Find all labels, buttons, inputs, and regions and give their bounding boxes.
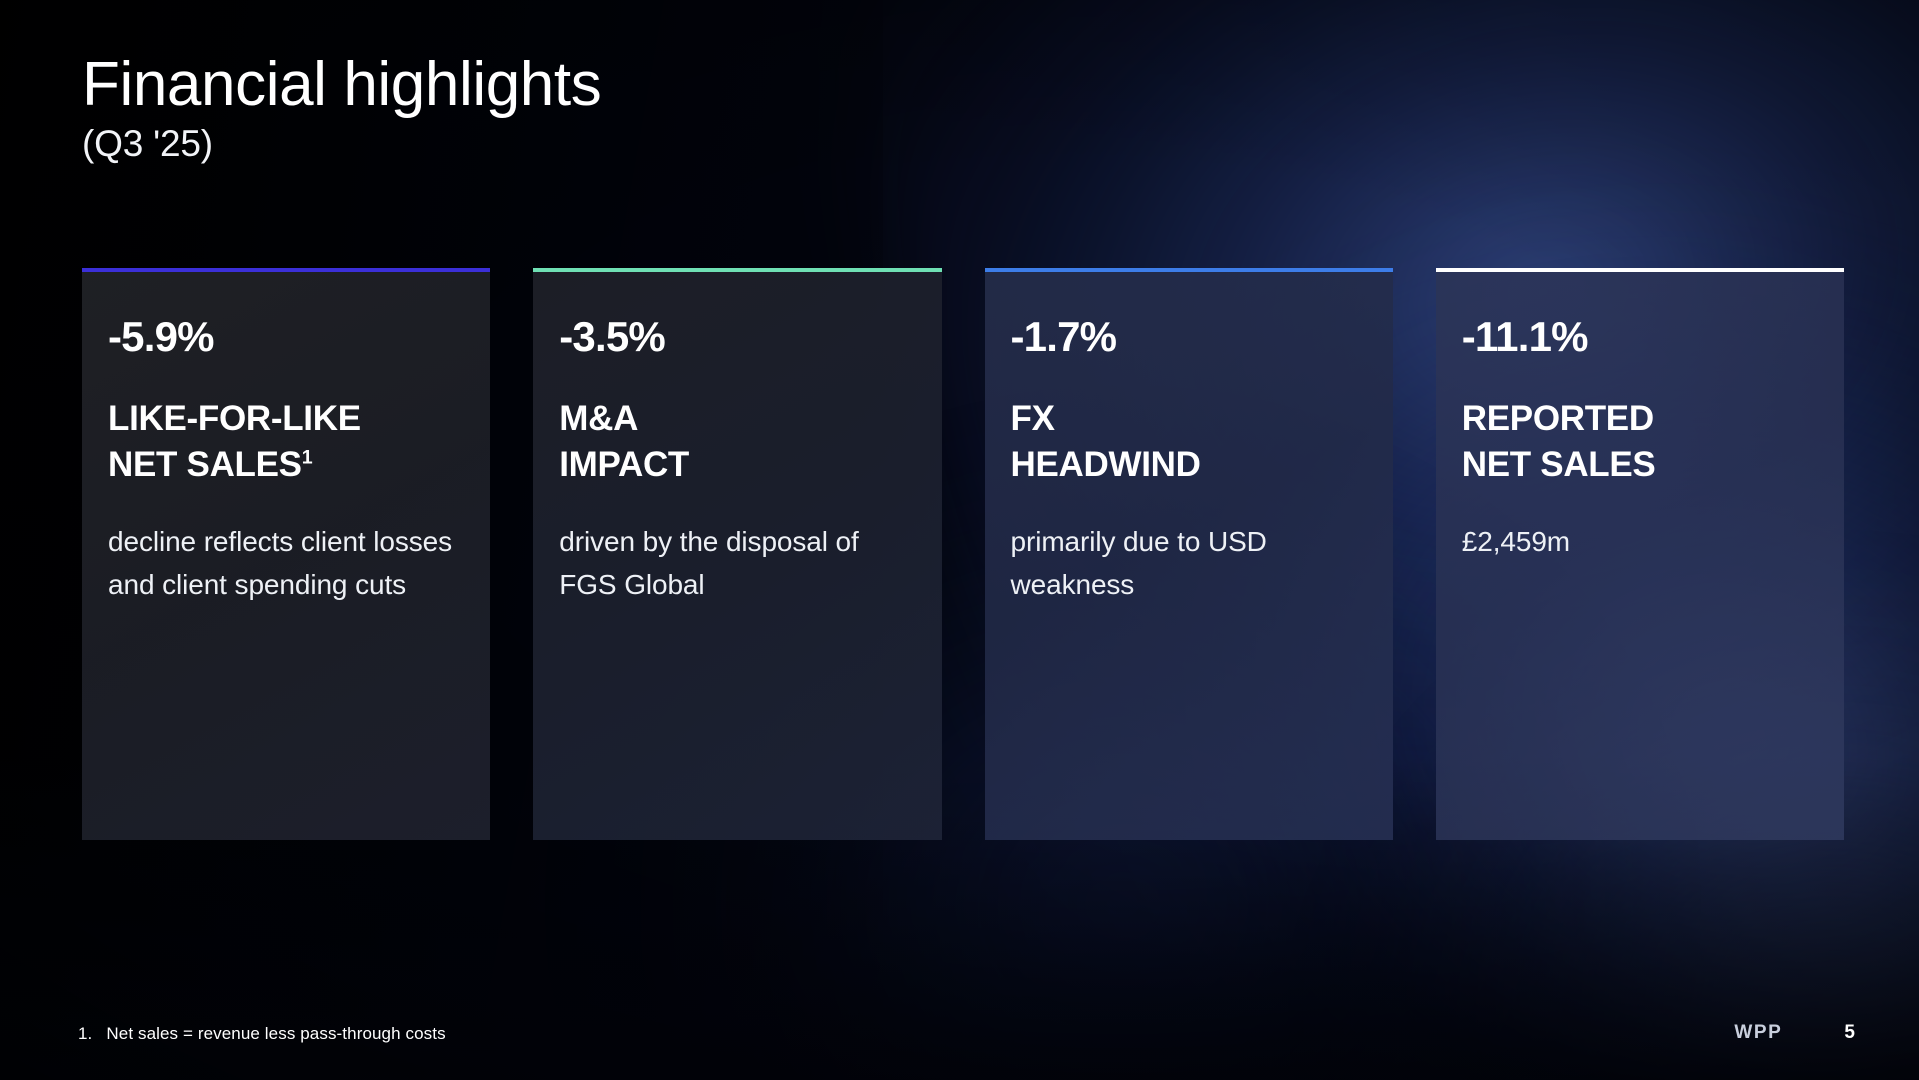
metric-card-reported-net-sales: -11.1% REPORTED NET SALES £2,459m bbox=[1436, 268, 1844, 840]
metric-description: driven by the disposal of FGS Global bbox=[559, 521, 915, 606]
footnote: 1. Net sales = revenue less pass-through… bbox=[78, 1024, 446, 1044]
metric-value: -3.5% bbox=[559, 316, 915, 358]
metric-description: primarily due to USD weakness bbox=[1011, 521, 1367, 606]
page-title: Financial highlights bbox=[82, 52, 601, 118]
slide-footer: WPP 5 bbox=[1734, 1022, 1855, 1044]
metric-value: -11.1% bbox=[1462, 316, 1818, 358]
footnote-text: Net sales = revenue less pass-through co… bbox=[106, 1024, 445, 1044]
metric-card-fx-headwind: -1.7% FX HEADWIND primarily due to USD w… bbox=[985, 268, 1393, 840]
metric-value: -1.7% bbox=[1011, 316, 1367, 358]
metric-label-text: REPORTED NET SALES bbox=[1462, 399, 1656, 484]
metric-description: £2,459m bbox=[1462, 521, 1818, 564]
metric-label-text: M&A IMPACT bbox=[559, 399, 689, 484]
footnote-marker: 1. bbox=[78, 1024, 92, 1044]
metric-card-group: -5.9% LIKE-FOR-LIKE NET SALES1 decline r… bbox=[82, 268, 1844, 840]
presentation-slide: Financial highlights (Q3 '25) -5.9% LIKE… bbox=[0, 0, 1919, 1080]
metric-label-footnote-marker: 1 bbox=[302, 446, 313, 468]
metric-label: FX HEADWIND bbox=[1011, 396, 1367, 487]
metric-label: LIKE-FOR-LIKE NET SALES1 bbox=[108, 396, 464, 487]
page-subtitle: (Q3 '25) bbox=[82, 124, 601, 165]
metric-label-text: FX HEADWIND bbox=[1011, 399, 1201, 484]
metric-label: M&A IMPACT bbox=[559, 396, 915, 487]
metric-label: REPORTED NET SALES bbox=[1462, 396, 1818, 487]
slide-header: Financial highlights (Q3 '25) bbox=[82, 52, 601, 164]
metric-card-like-for-like-net-sales: -5.9% LIKE-FOR-LIKE NET SALES1 decline r… bbox=[82, 268, 490, 840]
metric-label-text: LIKE-FOR-LIKE NET SALES bbox=[108, 399, 361, 484]
metric-description: decline reflects client losses and clien… bbox=[108, 521, 464, 606]
wpp-logo: WPP bbox=[1734, 1022, 1782, 1044]
metric-card-ma-impact: -3.5% M&A IMPACT driven by the disposal … bbox=[533, 268, 941, 840]
page-number: 5 bbox=[1844, 1022, 1855, 1044]
metric-value: -5.9% bbox=[108, 316, 464, 358]
